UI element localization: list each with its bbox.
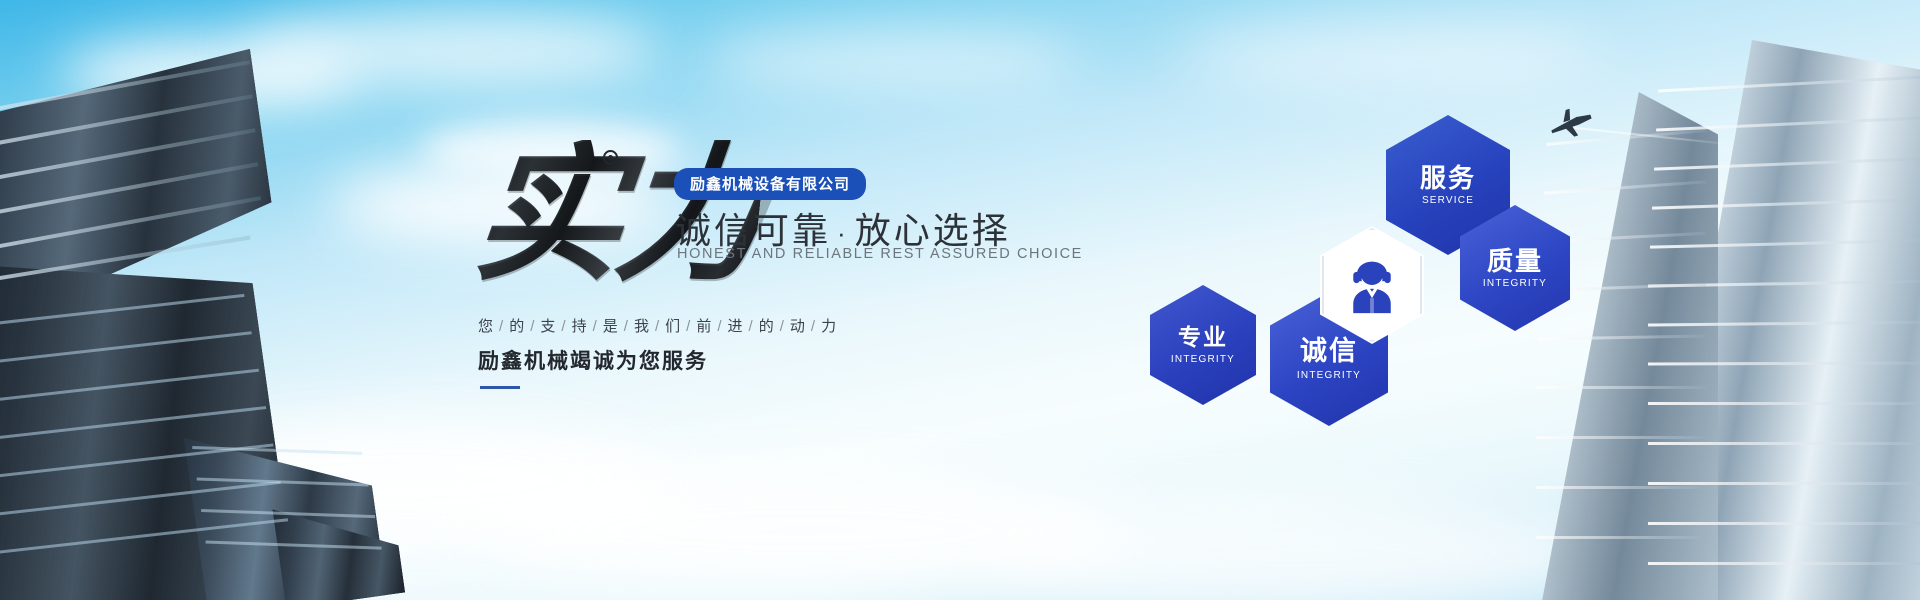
slogan-separator: / (712, 318, 727, 335)
slogan-char: 您 (478, 318, 494, 335)
hexagon-label-en: INTEGRITY (1483, 278, 1547, 289)
slogan-char: 进 (728, 318, 744, 335)
slogan-separator: / (588, 318, 603, 335)
hexagon-label-en: INTEGRITY (1171, 354, 1235, 365)
slogan-separator: / (619, 318, 634, 335)
tagline-separator: · (831, 218, 855, 248)
slogan-char: 支 (540, 318, 556, 335)
decorative-dot-icon (603, 150, 618, 165)
slogan-char: 持 (572, 318, 588, 335)
accent-rule (480, 386, 520, 389)
airplane-icon (1548, 108, 1594, 138)
hexagon-label-cn: 专业 (1178, 325, 1228, 350)
slogan-char: 力 (821, 318, 837, 335)
left-building (0, 31, 457, 600)
slogan-char: 是 (603, 318, 619, 335)
slogan-separator: / (681, 318, 696, 335)
slogan-char: 的 (759, 318, 775, 335)
slogan-separator: / (775, 318, 790, 335)
slogan-separator: / (650, 318, 665, 335)
slogan-char: 我 (634, 318, 650, 335)
company-name-badge: 励鑫机械设备有限公司 (674, 168, 866, 200)
cloud (700, 30, 1080, 90)
slogan-char: 前 (696, 318, 712, 335)
slogan-char: 的 (509, 318, 525, 335)
tagline-right: 放心选择 (855, 210, 1011, 251)
slogan-char: 们 (665, 318, 681, 335)
hexagon-label-cn: 服务 (1420, 164, 1476, 193)
tagline-english: HONEST AND RELIABLE REST ASSURED CHOICE (677, 246, 1083, 262)
hexagon-label-en: SERVICE (1422, 195, 1474, 206)
slogan-separator: / (525, 318, 540, 335)
headline-block: 实力 励鑫机械设备有限公司 诚信可靠·放心选择 HONEST AND RELIA… (470, 120, 1090, 440)
hero-banner: 实力 励鑫机械设备有限公司 诚信可靠·放心选择 HONEST AND RELIA… (0, 0, 1920, 600)
slogan-separator: / (556, 318, 571, 335)
slogan-separator: / (744, 318, 759, 335)
slogan-separator: / (806, 318, 821, 335)
slogan: 您/的/支/持/是/我/们/前/进/的/动/力 (478, 315, 837, 336)
hexagon-label-cn: 诚信 (1300, 337, 1358, 367)
sub-slogan: 励鑫机械竭诚为您服务 (478, 345, 708, 375)
hexagon-badge-professional[interactable]: 专业 INTEGRITY (1150, 285, 1256, 405)
slogan-separator: / (494, 318, 509, 335)
tagline-left: 诚信可靠 (675, 210, 831, 251)
hexagon-label-en: INTEGRITY (1297, 370, 1361, 381)
hexagon-label-cn: 质量 (1487, 247, 1543, 276)
slogan-char: 动 (790, 318, 806, 335)
